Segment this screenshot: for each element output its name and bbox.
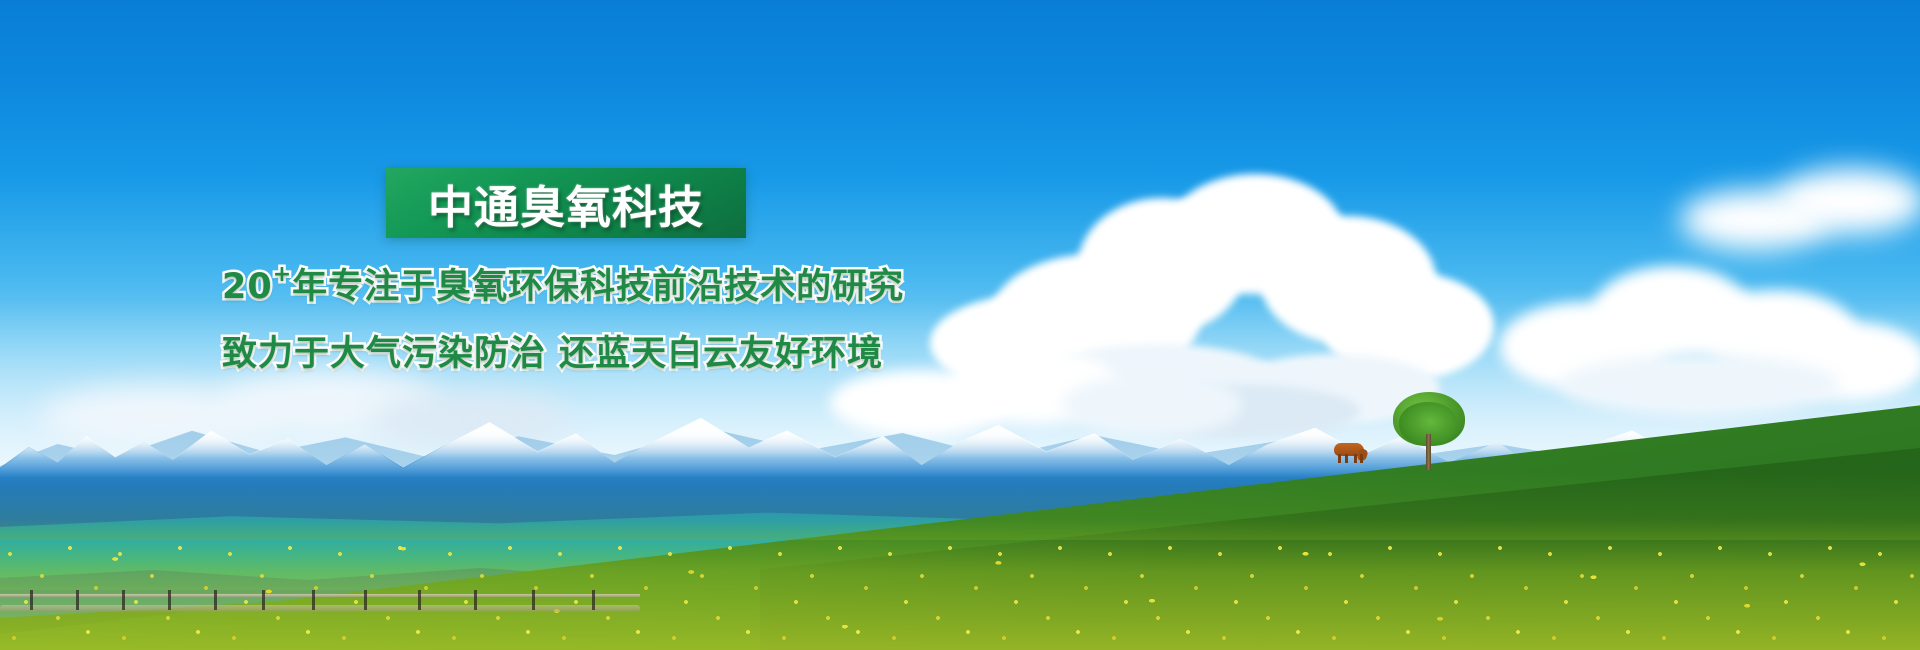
tagline-plus-superscript: + bbox=[273, 262, 292, 287]
tagline-primary-text: 年专注于臭氧环保科技前沿技术的研究 bbox=[292, 267, 904, 307]
tagline-years-number: 20 bbox=[222, 267, 273, 307]
tagline-secondary: 致力于大气污染防治 还蓝天白云友好环境 bbox=[222, 325, 883, 376]
hero-banner: 中通臭氧科技 20+年专注于臭氧环保科技前沿技术的研究 致力于大气污染防治 还蓝… bbox=[0, 0, 1920, 650]
brand-title-plate: 中通臭氧科技 bbox=[386, 168, 746, 238]
tagline-primary: 20+年专注于臭氧环保科技前沿技术的研究 bbox=[222, 258, 904, 309]
brand-title: 中通臭氧科技 bbox=[386, 168, 746, 238]
banner-text-block: 中通臭氧科技 20+年专注于臭氧环保科技前沿技术的研究 致力于大气污染防治 还蓝… bbox=[0, 0, 1920, 650]
